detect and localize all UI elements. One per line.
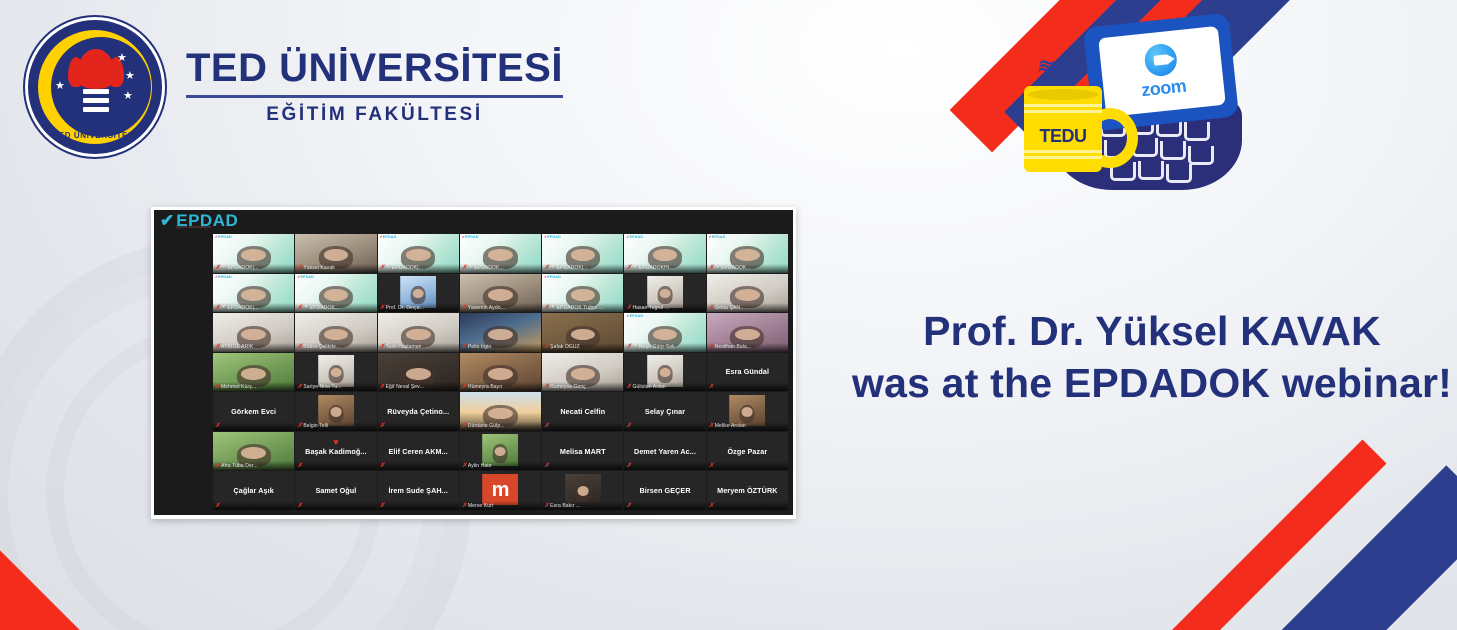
muted-mic-icon: ✗ [626,344,631,350]
participant-name-bar: ✗Tulin Haşlaman ... [378,343,459,352]
participant-tile[interactable]: ✗Esra Bakır ... [542,471,623,510]
participant-tile[interactable]: Başak Kadimoğ...♥✗ [295,432,376,471]
participant-name-label: Pelin İrgin [468,344,491,350]
epdad-badge-icon: ✔EPDAD [380,235,397,239]
muted-mic-icon: ✗ [626,463,631,469]
epdad-check-icon: ✔ [160,213,174,228]
participant-tile[interactable]: ✗Pelin İrgin [460,313,541,352]
participant-tile[interactable]: ✗Kübra Çelikde... [295,313,376,352]
participant-tile[interactable]: ✗Hasan Tugrul ... [624,274,705,313]
participant-name-bar: ✗Pelin İrgin [460,343,541,352]
muted-mic-icon: ✗ [544,423,549,429]
faculty-name: EĞİTİM FAKÜLTESİ [186,104,563,126]
muted-mic-icon: ✗ [462,344,467,350]
participant-name-bar: ✗ [295,461,376,470]
epdad-badge-icon: ✔EPDAD [544,235,561,239]
participant-name-bar: ✗Selda ŞAN [707,303,788,312]
participant-avatar [493,444,508,462]
muted-mic-icon: ✗ [462,384,467,390]
participant-tile[interactable]: ✗Dürdane Gülp... [460,392,541,431]
participant-tile[interactable]: ✔EPDAD✗▼EPDADOK|... [213,274,294,313]
camera-icon: ▼ [221,305,226,311]
muted-mic-icon: ✗ [215,305,220,311]
participant-name-label: Dürdane Gülp... [468,423,505,429]
participant-name-bar: ✗Dürdane Gülp... [460,422,541,431]
stripe-blue [0,564,45,630]
muted-mic-icon: ✗ [626,423,631,429]
torch-icon [83,89,109,94]
zoom-laptop-illustration: zoom TEDU ≋ [1010,8,1270,203]
ted-seal-icon: ★ ★ ★ ★ TED ÜNİVERSİTESİ [28,20,162,154]
participant-name-label: Neşe Gürp-Sak [639,344,675,350]
epdad-tagline: Eğitim Akreditasyon [176,225,211,229]
participant-name-bar: ✗Neslihan Bala... [707,343,788,352]
participant-avatar [740,405,755,423]
participant-name-bar: ✗ [542,422,623,431]
participant-name-label: Gülistan Aslan [632,384,665,390]
participant-tile[interactable]: ✗Melike Arslan [707,392,788,431]
participant-tile[interactable]: Selay Çınar✗ [624,392,705,431]
stripe-blue [1149,465,1457,630]
participant-name-label: Mehmet Kürş... [221,384,256,390]
muted-mic-icon: ✗ [544,305,549,311]
participant-name-label: Afra Tüba Der... [221,463,258,469]
ted-university-logo: ★ ★ ★ ★ TED ÜNİVERSİTESİ TED ÜNİVERSİTES… [28,20,563,154]
participant-name-label: Yasemin Aydo... [468,305,505,311]
camera-icon: ▼ [550,305,555,311]
participant-tile[interactable]: ✔EPDAD✗▼EPDADOK... [707,234,788,273]
participant-name-label: AYBIGE ARIK [221,344,253,350]
banner-canvas: ★ ★ ★ ★ TED ÜNİVERSİTESİ TED ÜNİVERSİTES… [0,0,1457,630]
participant-name-label: Aylin Hatır [468,463,492,469]
participant-tile[interactable]: ✗Belgin Telli [295,392,376,431]
muted-mic-icon: ✗ [380,344,385,350]
participant-name-bar: ✗Prof. Dr. Dinça... [378,303,459,312]
headline-line-1: Prof. Dr. Yüksel KAVAK [852,305,1452,357]
muted-mic-icon: ✗ [297,463,302,469]
headline-line-2: was at the EPDADOK webinar! [852,357,1452,409]
zoom-gallery-view: ✔ EPDAD Eğitim Akreditasyon ✔EPDAD✗▼EPDA… [154,210,793,515]
muted-mic-icon: ✗ [380,423,385,429]
participant-name-bar: ✗Rumeysa Genç [542,382,623,391]
epdad-badge-icon: ✔EPDAD [297,275,314,279]
muted-mic-icon: ✗ [215,384,220,390]
participant-avatar [328,365,343,383]
participant-name-label: Rumeysa Genç [550,384,586,390]
participant-name-bar: ✗Aylin Hatır [460,461,541,470]
zoom-wordmark: zoom [1140,76,1187,102]
wordmark: TED ÜNİVERSİTESİ EĞİTİM FAKÜLTESİ [186,48,563,126]
participant-name-bar: ✗Afra Tüba Der... [213,461,294,470]
steam-icon: ≋ [1036,53,1058,80]
muted-mic-icon: ✗ [215,265,220,271]
muted-mic-icon: ✗ [544,344,549,350]
university-name: TED ÜNİVERSİTESİ [186,48,563,88]
participant-tile[interactable]: ✔EPDAD✗▼EPDADOK|... [213,234,294,273]
participant-tile[interactable]: ✗Eğif Neval Şev... [378,353,459,392]
participant-tile[interactable]: ✗Rumeysa Genç [542,353,623,392]
participant-tile[interactable]: ✔EPDAD✗▼EPDADOK|... [378,234,459,273]
tedu-mug-icon: TEDU [1024,86,1102,172]
muted-mic-icon: ✗ [215,463,220,469]
participant-tile[interactable]: ✗Selda ŞAN [707,274,788,313]
epdad-badge-icon: ✔EPDAD [626,314,643,318]
participant-name-label: EPDADOK|... [227,265,258,271]
participant-name-label: Merve Kurt [468,503,493,509]
muted-mic-icon: ✗ [626,305,631,311]
mug-label: TEDU [1024,126,1102,147]
participant-name-bar: ✗▼EPDADOK... [295,303,376,312]
epdad-badge-icon: ✔EPDAD [544,275,561,279]
stripe-red [1065,439,1386,630]
participant-name-bar: ✗ [624,501,705,510]
muted-mic-icon: ✗ [709,265,714,271]
epdad-badge-icon: ✔EPDAD [215,235,232,239]
participant-avatar [575,484,590,502]
muted-mic-icon: ✗ [709,463,714,469]
muted-mic-icon: ✗ [709,305,714,311]
participant-name-bar: ✗▼EPDADOK Tuğçe ... [542,303,623,312]
participant-name-label: Melike Arslan [715,423,746,429]
participant-name-bar: ✗ [295,501,376,510]
participant-name-bar: ✗Şafak OĞUZ [542,343,623,352]
participant-name-label: EPDADOK Tuğçe ... [557,305,604,311]
participant-name-label: Yüksel Kavak [303,265,335,271]
participant-name-bar: ✗Esra Bakır ... [542,501,623,510]
participant-name-bar: ✗ [213,501,294,510]
muted-mic-icon: ✗ [297,384,302,390]
participant-name-label: Kübra Çelikde... [303,344,340,350]
muted-mic-icon: ✗ [380,265,385,271]
participant-name-bar: ✗Hasan Tugrul ... [624,303,705,312]
camera-icon: ▼ [632,265,637,271]
participant-name-label: EPDADOK... [310,305,340,311]
participant-tile[interactable]: Meryem ÖZTÜRK✗ [707,471,788,510]
participant-tile[interactable]: ✗Yasemin Aydo... [460,274,541,313]
participant-name-bar: ✗▼EPDADOK|... [213,264,294,273]
participant-name-bar: ✗▼EPDADOK|... [378,264,459,273]
laptop-screen: zoom [1098,26,1226,117]
participant-name-bar: ✗ [378,461,459,470]
participant-name-label: Şafak OĞUZ [550,344,580,350]
headline: Prof. Dr. Yüksel KAVAK was at the EPDADO… [852,305,1452,410]
participant-name-label: Sariye Nisa Tu... [303,384,341,390]
participant-tile[interactable]: ✗Mehmet Kürş... [213,353,294,392]
participant-name-label: EPDADOKHI... [639,265,674,271]
participant-name-label: Tulin Haşlaman ... [386,344,428,350]
participant-tile[interactable]: ✗Prof. Dr. Dinça... [378,274,459,313]
participant-tile[interactable]: Çağlar Aşık✗ [213,471,294,510]
muted-mic-icon: ✗ [297,344,302,350]
participant-tile[interactable]: Demet Yaren Ac...✗ [624,432,705,471]
muted-mic-icon: ✗ [215,503,220,509]
participant-name-label: EPDADOK|... [392,265,423,271]
participant-name-bar: ✗AYBIGE ARIK [213,343,294,352]
participant-name-label: Esra Bakır ... [550,503,580,509]
participant-name-bar: ✗▼EPDADOK|... [213,303,294,312]
participant-name-bar: ✗ [707,382,788,391]
muted-mic-icon: ✗ [462,503,467,509]
zoom-meeting-screenshot: ✔ EPDAD Eğitim Akreditasyon ✔EPDAD✗▼EPDA… [151,207,796,519]
participant-tile[interactable]: ✗Gülistan Aslan [624,353,705,392]
participant-name-bar: ✗Melike Arslan [707,422,788,431]
participant-avatar [658,286,673,304]
camera-icon: ▼ [715,265,720,271]
participant-tile[interactable]: ✔EPDAD✗▼EPDADOK... [295,274,376,313]
participant-name-label: EPDADOK... [474,265,504,271]
participant-name-label: Hasan Tugrul ... [632,305,669,311]
participant-name-bar: ✗ [624,461,705,470]
muted-mic-icon: ✗ [297,265,302,271]
participant-tile[interactable]: ✔EPDAD✗▼EPDADOK Tuğçe ... [542,274,623,313]
participant-name-bar: ✗▼Neşe Gürp-Sak [624,343,705,352]
participant-name-bar: ✗Yüksel Kavak [295,264,376,273]
participant-tile[interactable]: ✔EPDAD✗▼EPDADOK|... [542,234,623,273]
participant-tile[interactable]: ✗Yüksel Kavak [295,234,376,273]
participant-name-label: Selda ŞAN [715,305,740,311]
muted-mic-icon: ✗ [626,503,631,509]
participant-tile[interactable]: ✔EPDAD✗▼EPDADOKHI... [624,234,705,273]
muted-mic-icon: ✗ [462,305,467,311]
participant-name-bar: ✗ [378,501,459,510]
muted-mic-icon: ✗ [297,305,302,311]
participant-name-label: Neslihan Bala... [715,344,752,350]
participant-name-bar: ✗Hümeyra Bayır [460,382,541,391]
epdad-badge-icon: ✔EPDAD [215,275,232,279]
muted-mic-icon: ✗ [380,463,385,469]
muted-mic-icon: ✗ [709,503,714,509]
participant-name-bar: ✗ [542,461,623,470]
participant-name-bar: ✗Kübra Çelikde... [295,343,376,352]
heart-icon: ♥ [333,437,338,447]
muted-mic-icon: ✗ [709,344,714,350]
camera-icon: ▼ [303,305,308,311]
participant-tile[interactable]: Samet Oğul✗ [295,471,376,510]
participant-name-bar: ✗Eğif Neval Şev... [378,382,459,391]
muted-mic-icon: ✗ [462,265,467,271]
participant-name-bar: ✗Belgin Telli [295,422,376,431]
camera-icon: ▼ [550,265,555,271]
participant-name-bar: ✗ [707,461,788,470]
participant-name-bar: ✗ [707,501,788,510]
participant-name-bar: ✗▼EPDADOKHI... [624,264,705,273]
participant-name-bar: ✗Gülistan Aslan [624,382,705,391]
camera-icon: ▼ [386,265,391,271]
participant-tile[interactable]: Birsen GEÇER✗ [624,471,705,510]
epdad-badge-icon: ✔EPDAD [709,235,726,239]
muted-mic-icon: ✗ [709,384,714,390]
epdad-badge-icon: ✔EPDAD [462,235,479,239]
participant-name-label: Eğif Neval Şev... [386,384,424,390]
muted-mic-icon: ✗ [626,265,631,271]
participant-name-bar: ✗ [378,422,459,431]
epdad-badge-icon: ✔EPDAD [626,235,643,239]
muted-mic-icon: ✗ [215,423,220,429]
participant-tile[interactable]: ✔EPDAD✗▼Neşe Gürp-Sak [624,313,705,352]
seal-text: TED ÜNİVERSİTESİ [31,131,159,140]
muted-mic-icon: ✗ [297,503,302,509]
participant-tile[interactable]: Özge Pazar✗ [707,432,788,471]
participant-name-bar: ✗Mehmet Kürş... [213,382,294,391]
wordmark-divider [186,95,563,98]
muted-mic-icon: ✗ [297,423,302,429]
participant-name-bar: ✗Merve Kurt [460,501,541,510]
muted-mic-icon: ✗ [462,463,467,469]
participant-tile[interactable]: Elif Ceren AKM...✗ [378,432,459,471]
participant-name-bar: ✗Yasemin Aydo... [460,303,541,312]
participant-name-bar: ✗Sariye Nisa Tu... [295,382,376,391]
participant-tile[interactable]: Necati Celfin✗ [542,392,623,431]
participant-tile[interactable]: ✗Hümeyra Bayır [460,353,541,392]
camera-icon: ▼ [632,344,637,350]
participant-name-bar: ✗ [213,422,294,431]
camera-icon: ▼ [468,265,473,271]
participant-tile[interactable]: Rüveyda Çetino...✗ [378,392,459,431]
stripe-red [0,522,122,630]
camera-icon: ▼ [221,265,226,271]
muted-mic-icon: ✗ [462,423,467,429]
participant-tile[interactable]: ✗AYBIGE ARIK [213,313,294,352]
participant-name-bar: ✗ [624,422,705,431]
muted-mic-icon: ✗ [709,423,714,429]
muted-mic-icon: ✗ [626,384,631,390]
muted-mic-icon: ✗ [380,305,385,311]
participant-name-bar: ✗▼EPDADOK... [707,264,788,273]
participant-name-label: EPDADOK|... [557,265,588,271]
participant-tile[interactable]: ✔EPDAD✗▼EPDADOK... [460,234,541,273]
participant-name-label: EPDADOK... [721,265,751,271]
muted-mic-icon: ✗ [380,503,385,509]
participant-avatar [658,365,673,383]
participant-name-label: Belgin Telli [303,423,328,429]
muted-mic-icon: ✗ [544,265,549,271]
participant-name-label: Hümeyra Bayır [468,384,503,390]
participant-name-bar: ✗▼EPDADOK... [460,264,541,273]
muted-mic-icon: ✗ [380,384,385,390]
participant-tile[interactable]: Görkem Evci✗ [213,392,294,431]
participant-tile[interactable]: ✗Sariye Nisa Tu... [295,353,376,392]
muted-mic-icon: ✗ [215,344,220,350]
participant-tile[interactable]: Esra Gündal✗ [707,353,788,392]
participant-tile[interactable]: ✗Afra Tüba Der... [213,432,294,471]
participant-grid: ✔EPDAD✗▼EPDADOK|...✗Yüksel Kavak✔EPDAD✗▼… [213,234,788,510]
zoom-camera-icon [1143,42,1178,77]
participant-tile[interactable]: ✗Tulin Haşlaman ... [378,313,459,352]
participant-tile[interactable]: İrem Sude ŞAH...✗ [378,471,459,510]
participant-tile[interactable]: m✗Merve Kurt [460,471,541,510]
participant-tile[interactable]: ✗Neslihan Bala... [707,313,788,352]
participant-tile[interactable]: ✗Şafak OĞUZ [542,313,623,352]
participant-name-bar: ✗▼EPDADOK|... [542,264,623,273]
participant-tile[interactable]: ✗Aylin Hatır [460,432,541,471]
participant-name-label: EPDADOK|... [227,305,258,311]
muted-mic-icon: ✗ [544,503,549,509]
participant-avatar [411,286,426,304]
muted-mic-icon: ✗ [544,463,549,469]
participant-name-label: Prof. Dr. Dinça... [386,305,424,311]
participant-avatar [328,405,343,423]
participant-tile[interactable]: Melisa MART✗ [542,432,623,471]
muted-mic-icon: ✗ [544,384,549,390]
